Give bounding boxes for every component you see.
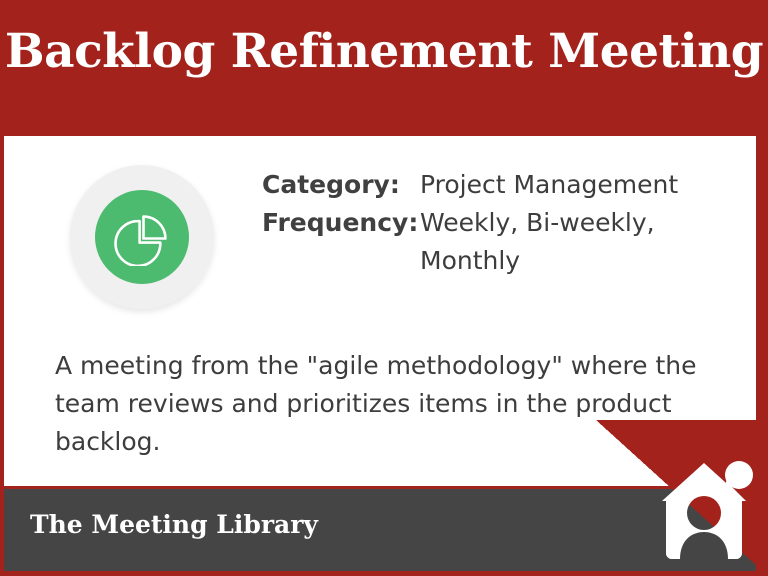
house-person-logo [660, 455, 756, 565]
pie-chart-icon [113, 208, 171, 266]
meta-row-frequency: Frequency: Weekly, Bi-weekly, Monthly [262, 204, 722, 280]
meeting-info-card: Backlog Refinement Meeting Category: Pro… [0, 0, 768, 576]
meta-label-frequency: Frequency: [262, 204, 420, 242]
meta-label-category: Category: [262, 166, 420, 204]
meta-list: Category: Project Management Frequency: … [262, 166, 722, 280]
category-icon [68, 163, 216, 311]
brand-name: The Meeting Library [30, 508, 318, 542]
page-title: Backlog Refinement Meeting [0, 28, 768, 75]
meta-value-frequency: Weekly, Bi-weekly, Monthly [420, 204, 722, 280]
meta-value-category: Project Management [420, 166, 722, 204]
meta-row-category: Category: Project Management [262, 166, 722, 204]
